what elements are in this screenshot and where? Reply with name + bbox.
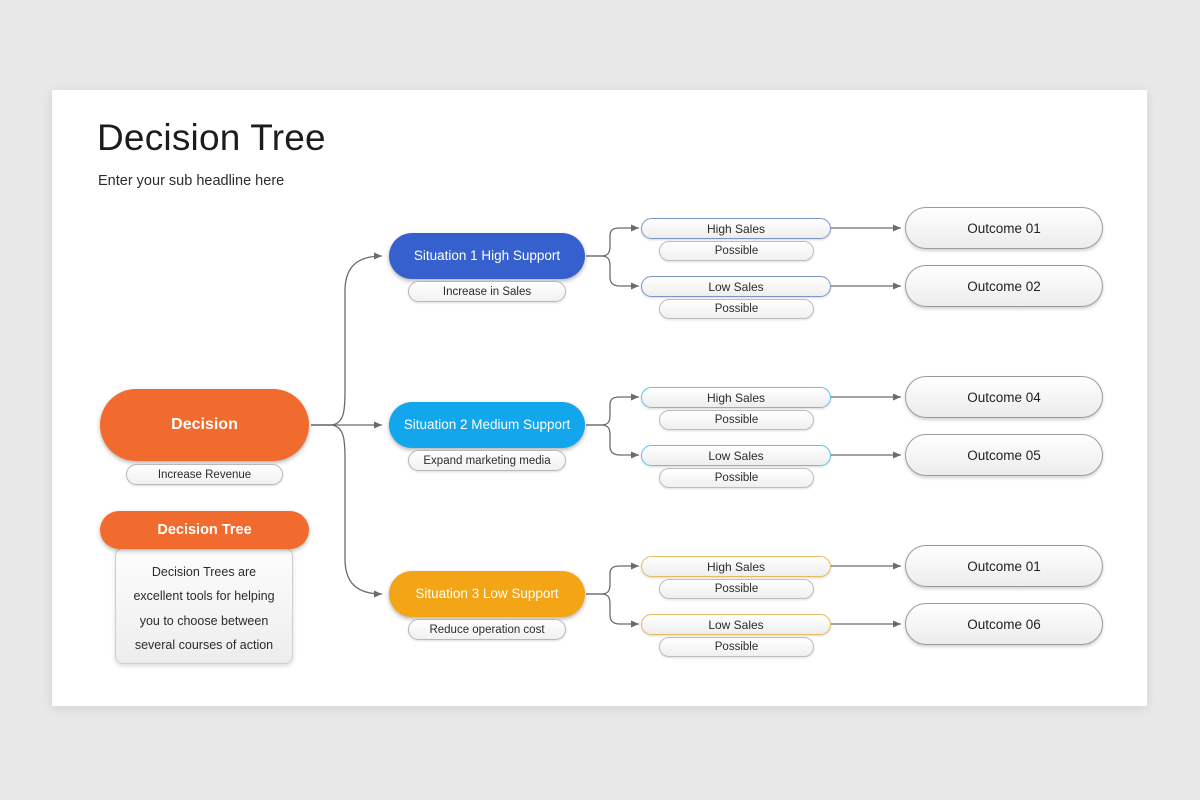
legend-line: excellent tools for helping [120, 584, 288, 608]
decision-node[interactable]: Decision [100, 389, 309, 461]
situation-node-1[interactable]: Situation 1 High Support [389, 233, 585, 279]
outcome-node-2-high[interactable]: Outcome 04 [905, 376, 1103, 418]
possible-pill-low-1[interactable]: Possible [659, 299, 814, 319]
legend-body: Decision Trees are excellent tools for h… [120, 560, 288, 658]
sales-pill-low-2[interactable]: Low Sales [641, 445, 831, 466]
situation-node-3[interactable]: Situation 3 Low Support [389, 571, 585, 617]
possible-pill-high-1[interactable]: Possible [659, 241, 814, 261]
situation-node-2-sublabel[interactable]: Expand marketing media [408, 450, 566, 471]
outcome-node-3-high[interactable]: Outcome 01 [905, 545, 1103, 587]
possible-pill-low-2[interactable]: Possible [659, 468, 814, 488]
outcome-node-1-high[interactable]: Outcome 01 [905, 207, 1103, 249]
legend-line: you to choose between [120, 609, 288, 633]
legend-line: Decision Trees are [120, 560, 288, 584]
sales-pill-high-2[interactable]: High Sales [641, 387, 831, 408]
sales-pill-low-1[interactable]: Low Sales [641, 276, 831, 297]
situation-node-3-sublabel[interactable]: Reduce operation cost [408, 619, 566, 640]
situation-node-1-sublabel[interactable]: Increase in Sales [408, 281, 566, 302]
possible-pill-high-3[interactable]: Possible [659, 579, 814, 599]
page-subtitle: Enter your sub headline here [98, 173, 284, 189]
legend-line: several courses of action [120, 633, 288, 657]
outcome-node-2-low[interactable]: Outcome 05 [905, 434, 1103, 476]
sales-pill-high-1[interactable]: High Sales [641, 218, 831, 239]
outcome-node-3-low[interactable]: Outcome 06 [905, 603, 1103, 645]
page-title: Decision Tree [97, 117, 326, 159]
situation-node-2[interactable]: Situation 2 Medium Support [389, 402, 585, 448]
sales-pill-high-3[interactable]: High Sales [641, 556, 831, 577]
possible-pill-high-2[interactable]: Possible [659, 410, 814, 430]
sales-pill-low-3[interactable]: Low Sales [641, 614, 831, 635]
outcome-node-1-low[interactable]: Outcome 02 [905, 265, 1103, 307]
decision-node-sublabel[interactable]: Increase Revenue [126, 464, 283, 485]
possible-pill-low-3[interactable]: Possible [659, 637, 814, 657]
legend-header[interactable]: Decision Tree [100, 511, 309, 549]
